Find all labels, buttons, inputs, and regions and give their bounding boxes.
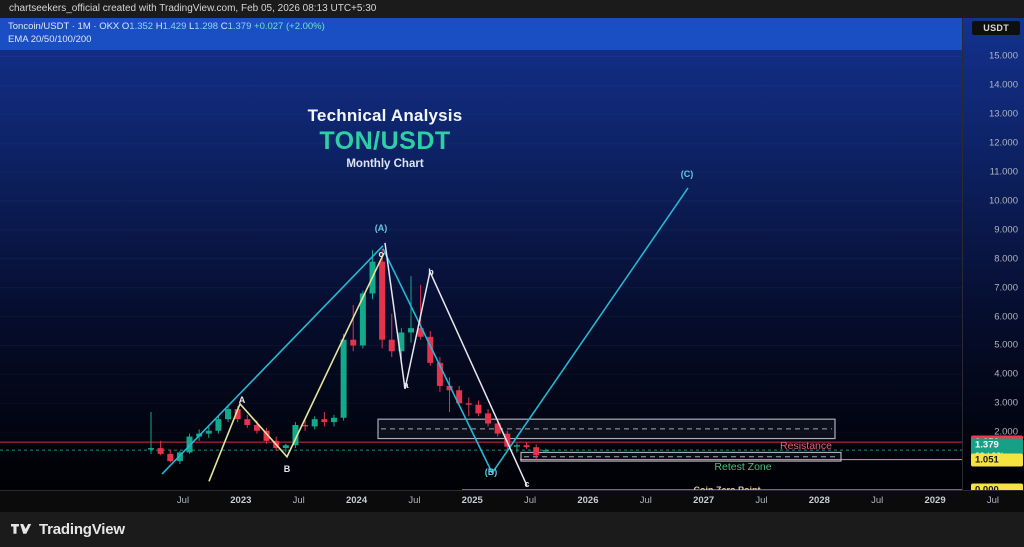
legend-low-value: 1.298 xyxy=(194,21,218,32)
time-tick: 2023 xyxy=(230,495,251,506)
legend-interval[interactable]: 1M xyxy=(78,21,91,32)
time-axis[interactable]: Jul2023Jul2024Jul2025Jul2026Jul2027Jul20… xyxy=(0,490,1024,512)
price-tick: 11.000 xyxy=(990,167,1018,178)
legend-ohlc-row: Toncoin/USDT · 1M · OKX O1.352 H1.429 L1… xyxy=(8,21,962,33)
time-tick: Jul xyxy=(987,495,999,506)
retest-price[interactable]: 1.051 xyxy=(971,453,1023,466)
resistance-label: Resistance xyxy=(780,440,832,452)
last-price-value: 1.379 xyxy=(975,440,999,451)
legend-high-value: 1.429 xyxy=(163,21,187,32)
time-tick: Jul xyxy=(871,495,883,506)
legend-open-value: 1.352 xyxy=(129,21,153,32)
price-tick: 9.000 xyxy=(994,224,1018,235)
price-tick: 15.000 xyxy=(989,51,1018,62)
attribution-bar: chartseekers_official created with Tradi… xyxy=(0,0,1024,18)
price-tick: 6.000 xyxy=(994,311,1018,322)
price-tick: 8.000 xyxy=(994,253,1018,264)
time-tick: 2026 xyxy=(577,495,598,506)
price-scale[interactable]: USDT 15.00014.00013.00012.00011.00010.00… xyxy=(962,18,1024,490)
price-tick: 7.000 xyxy=(994,282,1018,293)
legend-high-label: H xyxy=(156,21,163,32)
time-tick: Jul xyxy=(408,495,420,506)
legend-close-value: 1.379 xyxy=(228,21,252,32)
time-tick: Jul xyxy=(640,495,652,506)
time-tick: Jul xyxy=(755,495,767,506)
footer-bar: TradingView xyxy=(0,512,1024,547)
wave-label-b: b xyxy=(428,267,434,277)
time-tick: Jul xyxy=(293,495,305,506)
price-tick: 14.000 xyxy=(989,80,1018,91)
time-tick: 2027 xyxy=(693,495,714,506)
currency-badge[interactable]: USDT xyxy=(972,21,1020,35)
legend-symbol[interactable]: Toncoin/USDT xyxy=(8,21,69,32)
price-tick: 4.000 xyxy=(994,369,1018,380)
chart-pane[interactable]: Technical Analysis TON/USDT Monthly Char… xyxy=(0,18,1024,490)
legend-close-label: C xyxy=(221,21,228,32)
wave-label-B: B xyxy=(284,464,291,474)
time-tick: 2029 xyxy=(924,495,945,506)
tradingview-logo-icon xyxy=(11,522,33,537)
wave-label-a: a xyxy=(403,380,408,390)
wave-label-A: A xyxy=(239,395,246,405)
wave-label-c-top: c xyxy=(378,249,383,259)
chart-legend[interactable]: Toncoin/USDT · 1M · OKX O1.352 H1.429 L1… xyxy=(0,18,962,50)
legend-exchange[interactable]: OKX xyxy=(99,21,119,32)
chart-drawing-layer xyxy=(0,18,962,490)
time-tick: 2025 xyxy=(462,495,483,506)
retest-zone-label: Retest Zone xyxy=(714,461,771,473)
price-tick: 13.000 xyxy=(989,109,1018,120)
price-tick: 10.000 xyxy=(989,195,1018,206)
wave-label-B-upper: (B) xyxy=(485,467,498,477)
price-tick: 3.000 xyxy=(994,398,1018,409)
time-tick: Jul xyxy=(177,495,189,506)
legend-sep-1: · xyxy=(72,21,75,32)
time-tick: 2024 xyxy=(346,495,367,506)
time-tick: Jul xyxy=(524,495,536,506)
tradingview-wordmark: TradingView xyxy=(39,521,125,538)
legend-sep-2: · xyxy=(93,21,96,32)
wave-label-c-bottom: c xyxy=(524,479,529,489)
wave-label-A-upper: (A) xyxy=(375,223,388,233)
time-tick: 2028 xyxy=(809,495,830,506)
wave-label-C-upper: (C) xyxy=(681,169,694,179)
legend-indicator[interactable]: EMA 20/50/100/200 xyxy=(8,33,962,46)
price-tick: 5.000 xyxy=(994,340,1018,351)
tradingview-chart-screenshot: chartseekers_official created with Tradi… xyxy=(0,0,1024,547)
price-tick: 12.000 xyxy=(989,138,1018,149)
retest-price-value: 1.051 xyxy=(975,454,999,465)
legend-change: +0.027 (+2.00%) xyxy=(254,21,325,32)
